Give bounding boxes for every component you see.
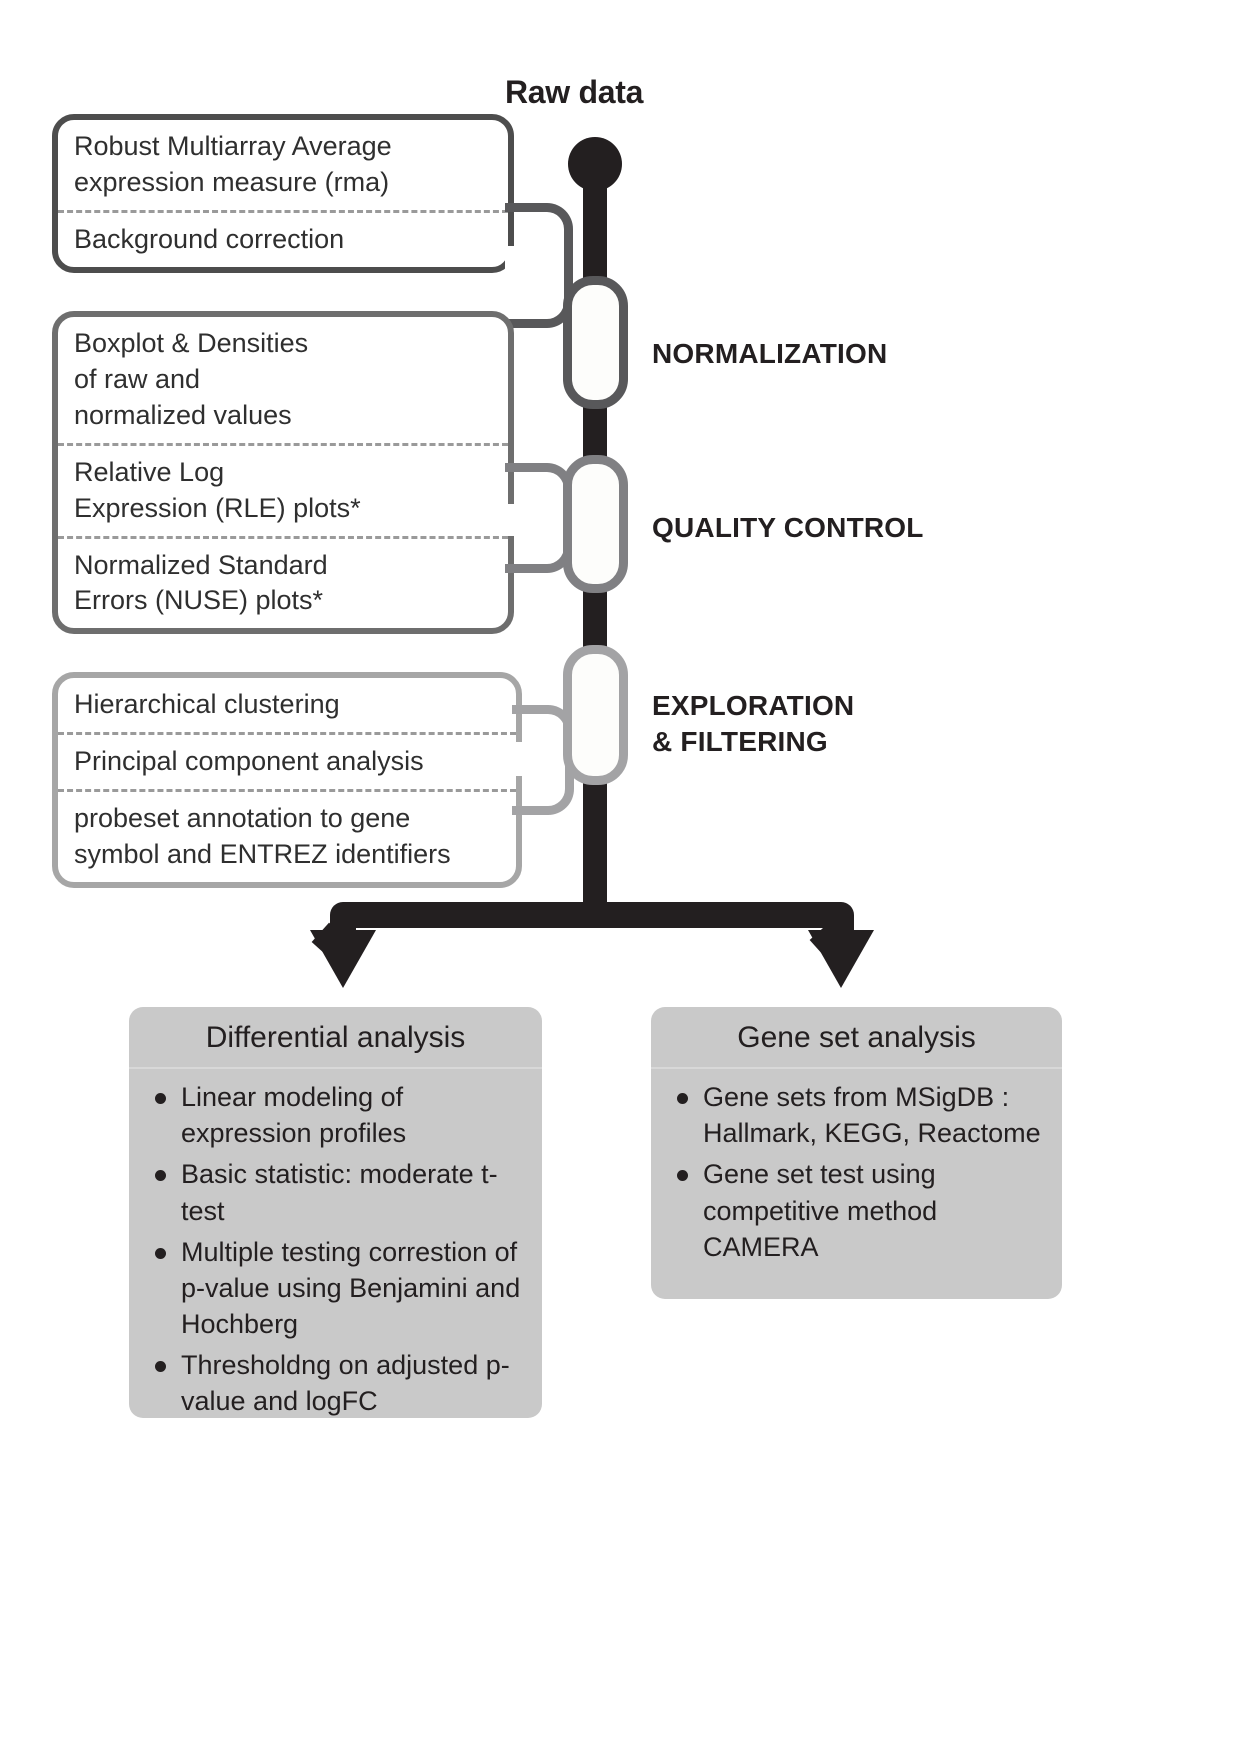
stage-step-probeset-annotation: probeset annotation to genesymbol and EN… — [58, 789, 516, 882]
raw-data-title: Raw data — [505, 74, 785, 111]
arrow-head-differential — [310, 930, 376, 988]
stage-card-exploration-filtering: Hierarchical clustering Principal compon… — [52, 672, 522, 888]
stage-step-pca: Principal component analysis — [58, 732, 516, 789]
list-item: Basic statistic: moderate t-test — [155, 1156, 528, 1228]
stage-step-boxplot-densities: Boxplot & Densitiesof raw andnormalized … — [58, 317, 508, 443]
stage-label-normalization: NORMALIZATION — [652, 336, 887, 372]
panel-differential-analysis: Differential analysis Linear modeling of… — [129, 1007, 542, 1418]
list-item: Thresholdng on adjusted p-value and logF… — [155, 1347, 528, 1419]
stage-label-quality-control: QUALITY CONTROL — [652, 510, 924, 546]
panel-list-gene-set-analysis: Gene sets from MSigDB : Hallmark, KEGG, … — [651, 1069, 1062, 1280]
stage-card-quality-control: Boxplot & Densitiesof raw andnormalized … — [52, 311, 514, 634]
stage-step-nuse-plots: Normalized StandardErrors (NUSE) plots* — [58, 536, 508, 629]
stage-label-exploration-filtering: EXPLORATION & FILTERING — [652, 688, 854, 760]
arrow-head-geneset — [808, 930, 874, 988]
stage-step-background-correction: Background correction — [58, 210, 508, 267]
stage-step-rma: Robust Multiarray Averageexpression meas… — [58, 120, 508, 210]
panel-gene-set-analysis: Gene set analysis Gene sets from MSigDB … — [651, 1007, 1062, 1299]
list-item: Gene set test using competitive method C… — [677, 1156, 1048, 1265]
fork-bar — [330, 902, 854, 928]
list-item: Linear modeling of expression profiles — [155, 1079, 528, 1151]
list-item: Multiple testing correstion of p-value u… — [155, 1234, 528, 1343]
stage-card-normalization: Robust Multiarray Averageexpression meas… — [52, 114, 514, 273]
stage-label-exploration-line1: EXPLORATION — [652, 688, 854, 724]
list-item: Gene sets from MSigDB : Hallmark, KEGG, … — [677, 1079, 1048, 1151]
spine-capsule-normalization — [563, 276, 628, 409]
panel-list-differential-analysis: Linear modeling of expression profiles B… — [129, 1069, 542, 1435]
workflow-diagram: Raw data Robust Multiarray Averageexpres… — [0, 0, 1240, 1753]
connector-mask-normalization — [505, 246, 527, 286]
panel-title-gene-set-analysis: Gene set analysis — [651, 1007, 1062, 1069]
spine-capsule-exploration-filtering — [563, 645, 628, 785]
stage-step-hierarchical-clustering: Hierarchical clustering — [58, 678, 516, 732]
stage-label-exploration-line2: & FILTERING — [652, 724, 854, 760]
connector-mask-quality-control — [505, 504, 527, 536]
stage-step-rle-plots: Relative LogExpression (RLE) plots* — [58, 443, 508, 536]
panel-title-differential-analysis: Differential analysis — [129, 1007, 542, 1069]
spine-capsule-quality-control — [563, 455, 628, 593]
connector-mask-exploration-filtering — [512, 742, 534, 776]
